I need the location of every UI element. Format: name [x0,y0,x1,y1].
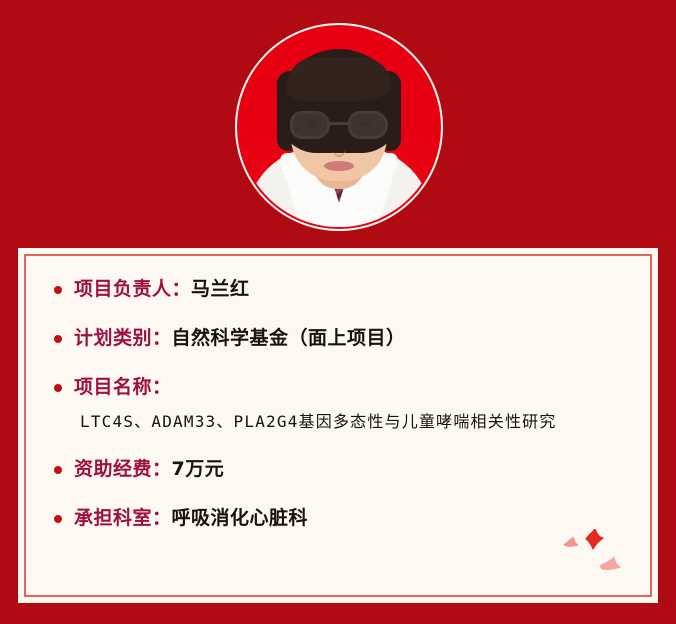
info-label-category: 计划类别： [74,327,172,349]
info-row-department: 承担科室：呼吸消化心脏科 [52,507,624,530]
info-value-funding: 7万元 [172,458,225,480]
info-label-funding: 资助经费： [74,458,172,480]
bullet-icon [54,466,62,474]
portrait-ring [235,23,443,231]
info-value-department: 呼吸消化心脏科 [172,507,309,529]
glasses-lens-right [348,111,388,139]
flying-birds-icon [562,529,632,577]
info-label-leader: 项目负责人： [74,278,191,300]
portrait-mouth [324,161,354,171]
info-label-department: 承担科室： [74,507,172,529]
portrait-nose [333,143,345,157]
info-row-funding: 资助经费：7万元 [52,458,624,481]
portrait-area [0,0,676,240]
portrait-hair-fringe [287,57,391,101]
bullet-icon [54,335,62,343]
info-label-project-name: 项目名称： [74,376,172,398]
info-card-inner-border: 项目负责人：马兰红 计划类别：自然科学基金（面上项目） 项目名称： LTC4S、… [24,254,652,597]
info-card: 项目负责人：马兰红 计划类别：自然科学基金（面上项目） 项目名称： LTC4S、… [18,248,658,603]
portrait-photo [239,27,439,227]
info-value-category: 自然科学基金（面上项目） [172,327,406,349]
info-list: 项目负责人：马兰红 计划类别：自然科学基金（面上项目） 项目名称： LTC4S、… [52,278,624,530]
bullet-icon [54,384,62,392]
info-row-category: 计划类别：自然科学基金（面上项目） [52,327,624,350]
info-row-project-name: 项目名称： [52,376,624,399]
bullet-icon [54,515,62,523]
glasses-icon [290,111,388,141]
glasses-lens-left [290,111,330,139]
info-value-leader: 马兰红 [191,278,250,300]
glasses-bridge [330,122,348,125]
info-row-leader: 项目负责人：马兰红 [52,278,624,301]
bullet-icon [54,286,62,294]
poster-root: 项目负责人：马兰红 计划类别：自然科学基金（面上项目） 项目名称： LTC4S、… [0,0,676,624]
project-title-text: LTC4S、ADAM33、PLA2G4基因多态性与儿童哮喘相关性研究 [52,408,624,432]
